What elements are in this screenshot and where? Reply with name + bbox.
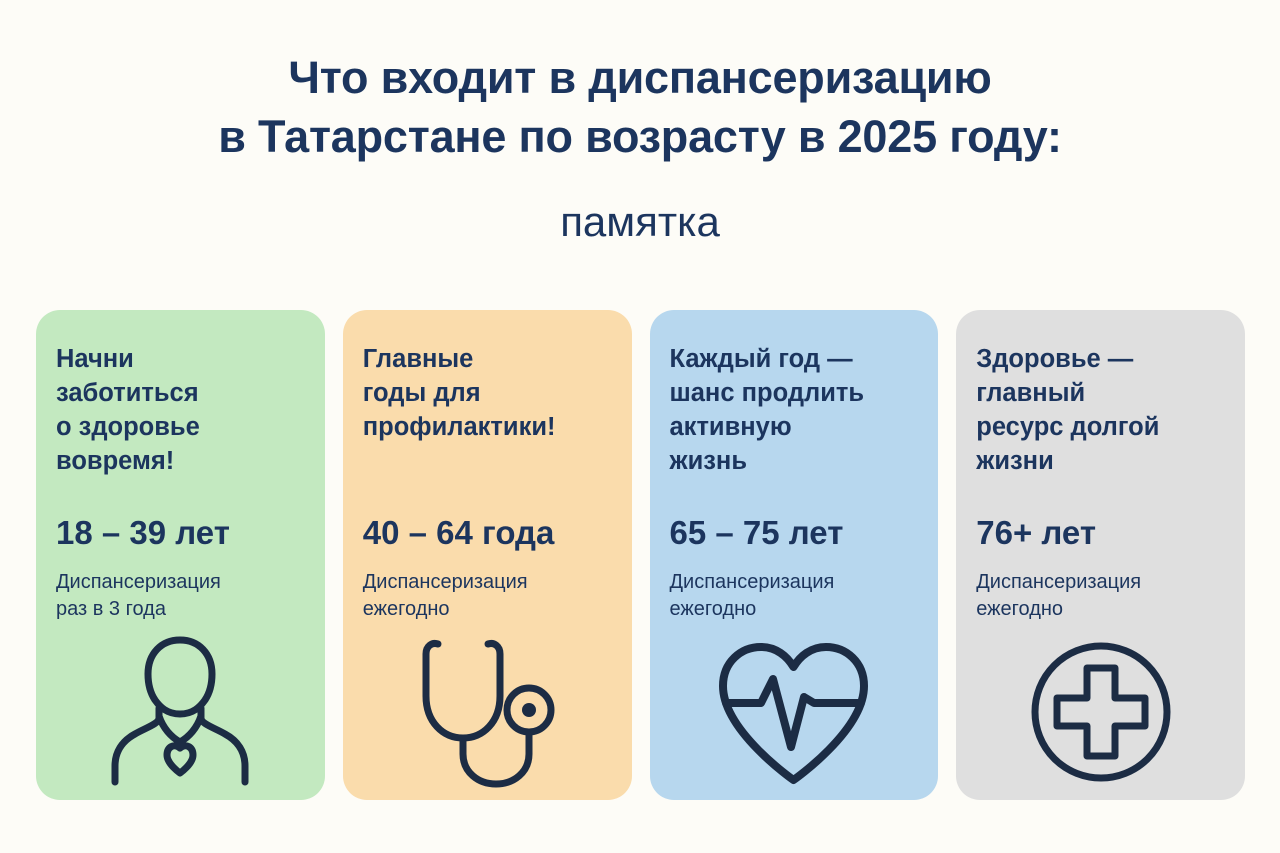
- card-lower-block: 65 – 75 лет Диспансеризация ежегодно: [670, 515, 925, 622]
- card-frequency-note: Диспансеризация ежегодно: [363, 569, 618, 622]
- age-group-card-18-39: Начни заботиться о здоровье вовремя! 18 …: [36, 310, 325, 800]
- card-lower-block: 76+ лет Диспансеризация ежегодно: [976, 515, 1231, 622]
- stethoscope-icon: [343, 620, 632, 790]
- age-group-cards: Начни заботиться о здоровье вовремя! 18 …: [36, 310, 1245, 800]
- card-frequency-note: Диспансеризация ежегодно: [670, 569, 925, 622]
- card-frequency-note: Диспансеризация ежегодно: [976, 569, 1231, 622]
- infographic-poster: Что входит в диспансеризацию в Татарстан…: [0, 0, 1280, 853]
- card-frequency-note: Диспансеризация раз в 3 года: [56, 569, 311, 622]
- person-heart-icon: [36, 620, 325, 790]
- page-subtitle: памятка: [0, 199, 1280, 245]
- card-age-range: 76+ лет: [976, 515, 1231, 551]
- page-title: Что входит в диспансеризацию в Татарстан…: [0, 48, 1280, 167]
- card-heading: Здоровье — главный ресурс долгой жизни: [976, 343, 1225, 479]
- card-age-range: 40 – 64 года: [363, 515, 618, 551]
- heart-pulse-icon: [650, 620, 939, 790]
- card-lower-block: 40 – 64 года Диспансеризация ежегодно: [363, 515, 618, 622]
- page-title-line-2: в Татарстане по возрасту в 2025 году:: [60, 107, 1220, 166]
- card-age-range: 18 – 39 лет: [56, 515, 311, 551]
- age-group-card-65-75: Каждый год — шанс продлить активную жизн…: [650, 310, 939, 800]
- age-group-card-76-plus: Здоровье — главный ресурс долгой жизни 7…: [956, 310, 1245, 800]
- age-group-card-40-64: Главные годы для профилактики! 40 – 64 г…: [343, 310, 632, 800]
- card-heading: Каждый год — шанс продлить активную жизн…: [670, 343, 919, 479]
- page-title-line-1: Что входит в диспансеризацию: [60, 48, 1220, 107]
- card-lower-block: 18 – 39 лет Диспансеризация раз в 3 года: [56, 515, 311, 622]
- title-block: Что входит в диспансеризацию в Татарстан…: [0, 48, 1280, 245]
- card-heading: Главные годы для профилактики!: [363, 343, 612, 445]
- card-age-range: 65 – 75 лет: [670, 515, 925, 551]
- medical-cross-circle-icon: [956, 620, 1245, 790]
- card-heading: Начни заботиться о здоровье вовремя!: [56, 343, 305, 479]
